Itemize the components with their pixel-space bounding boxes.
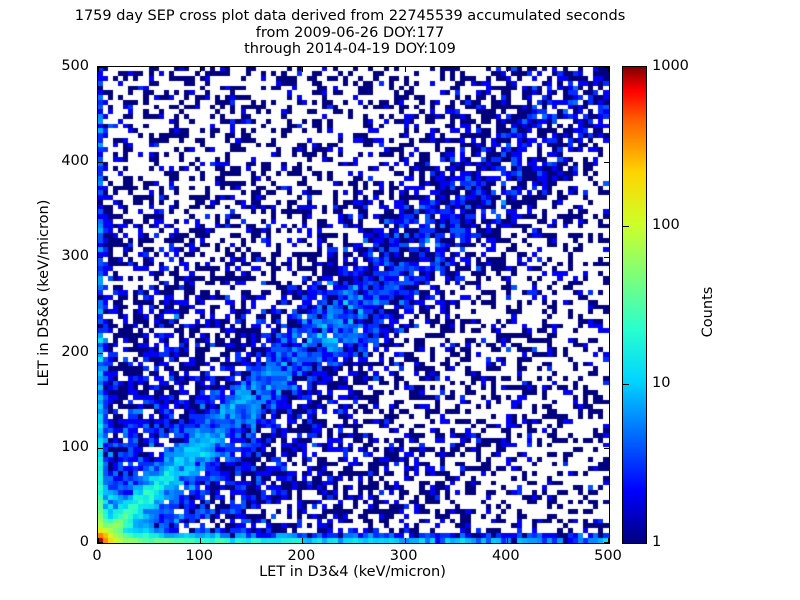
x-axis-tick <box>405 538 406 543</box>
chart-title-line-1: 1759 day SEP cross plot data derived fro… <box>0 8 700 25</box>
x-axis-tick <box>200 538 201 543</box>
y-axis-tick <box>98 257 103 258</box>
y-axis-tick <box>604 448 609 449</box>
colorbar-ticklabel: 100 <box>652 217 680 233</box>
y-axis-tick <box>98 67 103 68</box>
chart-title-line-3: through 2014-04-19 DOY:109 <box>0 41 700 58</box>
y-axis-label: LET in D5&6 (keV/micron) <box>36 123 52 463</box>
density-heatmap <box>98 67 609 543</box>
figure-canvas: 1759 day SEP cross plot data derived fro… <box>0 0 800 600</box>
x-axis-ticklabel: 200 <box>288 548 316 564</box>
chart-title: 1759 day SEP cross plot data derived fro… <box>0 8 700 58</box>
colorbar-label: Counts <box>700 212 716 412</box>
x-axis-tick <box>200 67 201 72</box>
y-axis-tick <box>604 542 609 543</box>
y-axis-tick <box>98 542 103 543</box>
colorbar-ticklabel: 1 <box>652 534 661 550</box>
x-axis-ticklabel: 0 <box>92 548 101 564</box>
y-axis-tick <box>98 448 103 449</box>
x-axis-tick <box>302 538 303 543</box>
y-axis-ticklabel: 0 <box>5 534 89 550</box>
colorbar-ticklabel: 1000 <box>652 58 689 74</box>
colorbar-ticklabel: 10 <box>652 375 670 391</box>
colorbar-gradient <box>623 67 646 543</box>
x-axis-ticklabel: 400 <box>492 548 520 564</box>
x-axis-ticklabel: 300 <box>390 548 418 564</box>
chart-title-line-2: from 2009-06-26 DOY:177 <box>0 25 700 42</box>
colorbar <box>622 66 647 544</box>
y-axis-tick <box>604 162 609 163</box>
y-axis-ticklabel: 500 <box>5 58 89 74</box>
plot-area <box>97 66 610 544</box>
y-axis-tick <box>98 353 103 354</box>
x-axis-ticklabel: 500 <box>594 548 622 564</box>
y-axis-tick <box>604 353 609 354</box>
y-axis-tick <box>604 67 609 68</box>
colorbar-tick <box>623 226 629 227</box>
x-axis-tick <box>302 67 303 72</box>
y-axis-tick <box>604 257 609 258</box>
x-axis-label: LET in D3&4 (keV/micron) <box>97 564 608 580</box>
y-axis-tick <box>98 162 103 163</box>
x-axis-tick <box>507 67 508 72</box>
colorbar-tick <box>623 384 629 385</box>
x-axis-tick <box>405 67 406 72</box>
x-axis-ticklabel: 100 <box>185 548 213 564</box>
x-axis-tick <box>507 538 508 543</box>
